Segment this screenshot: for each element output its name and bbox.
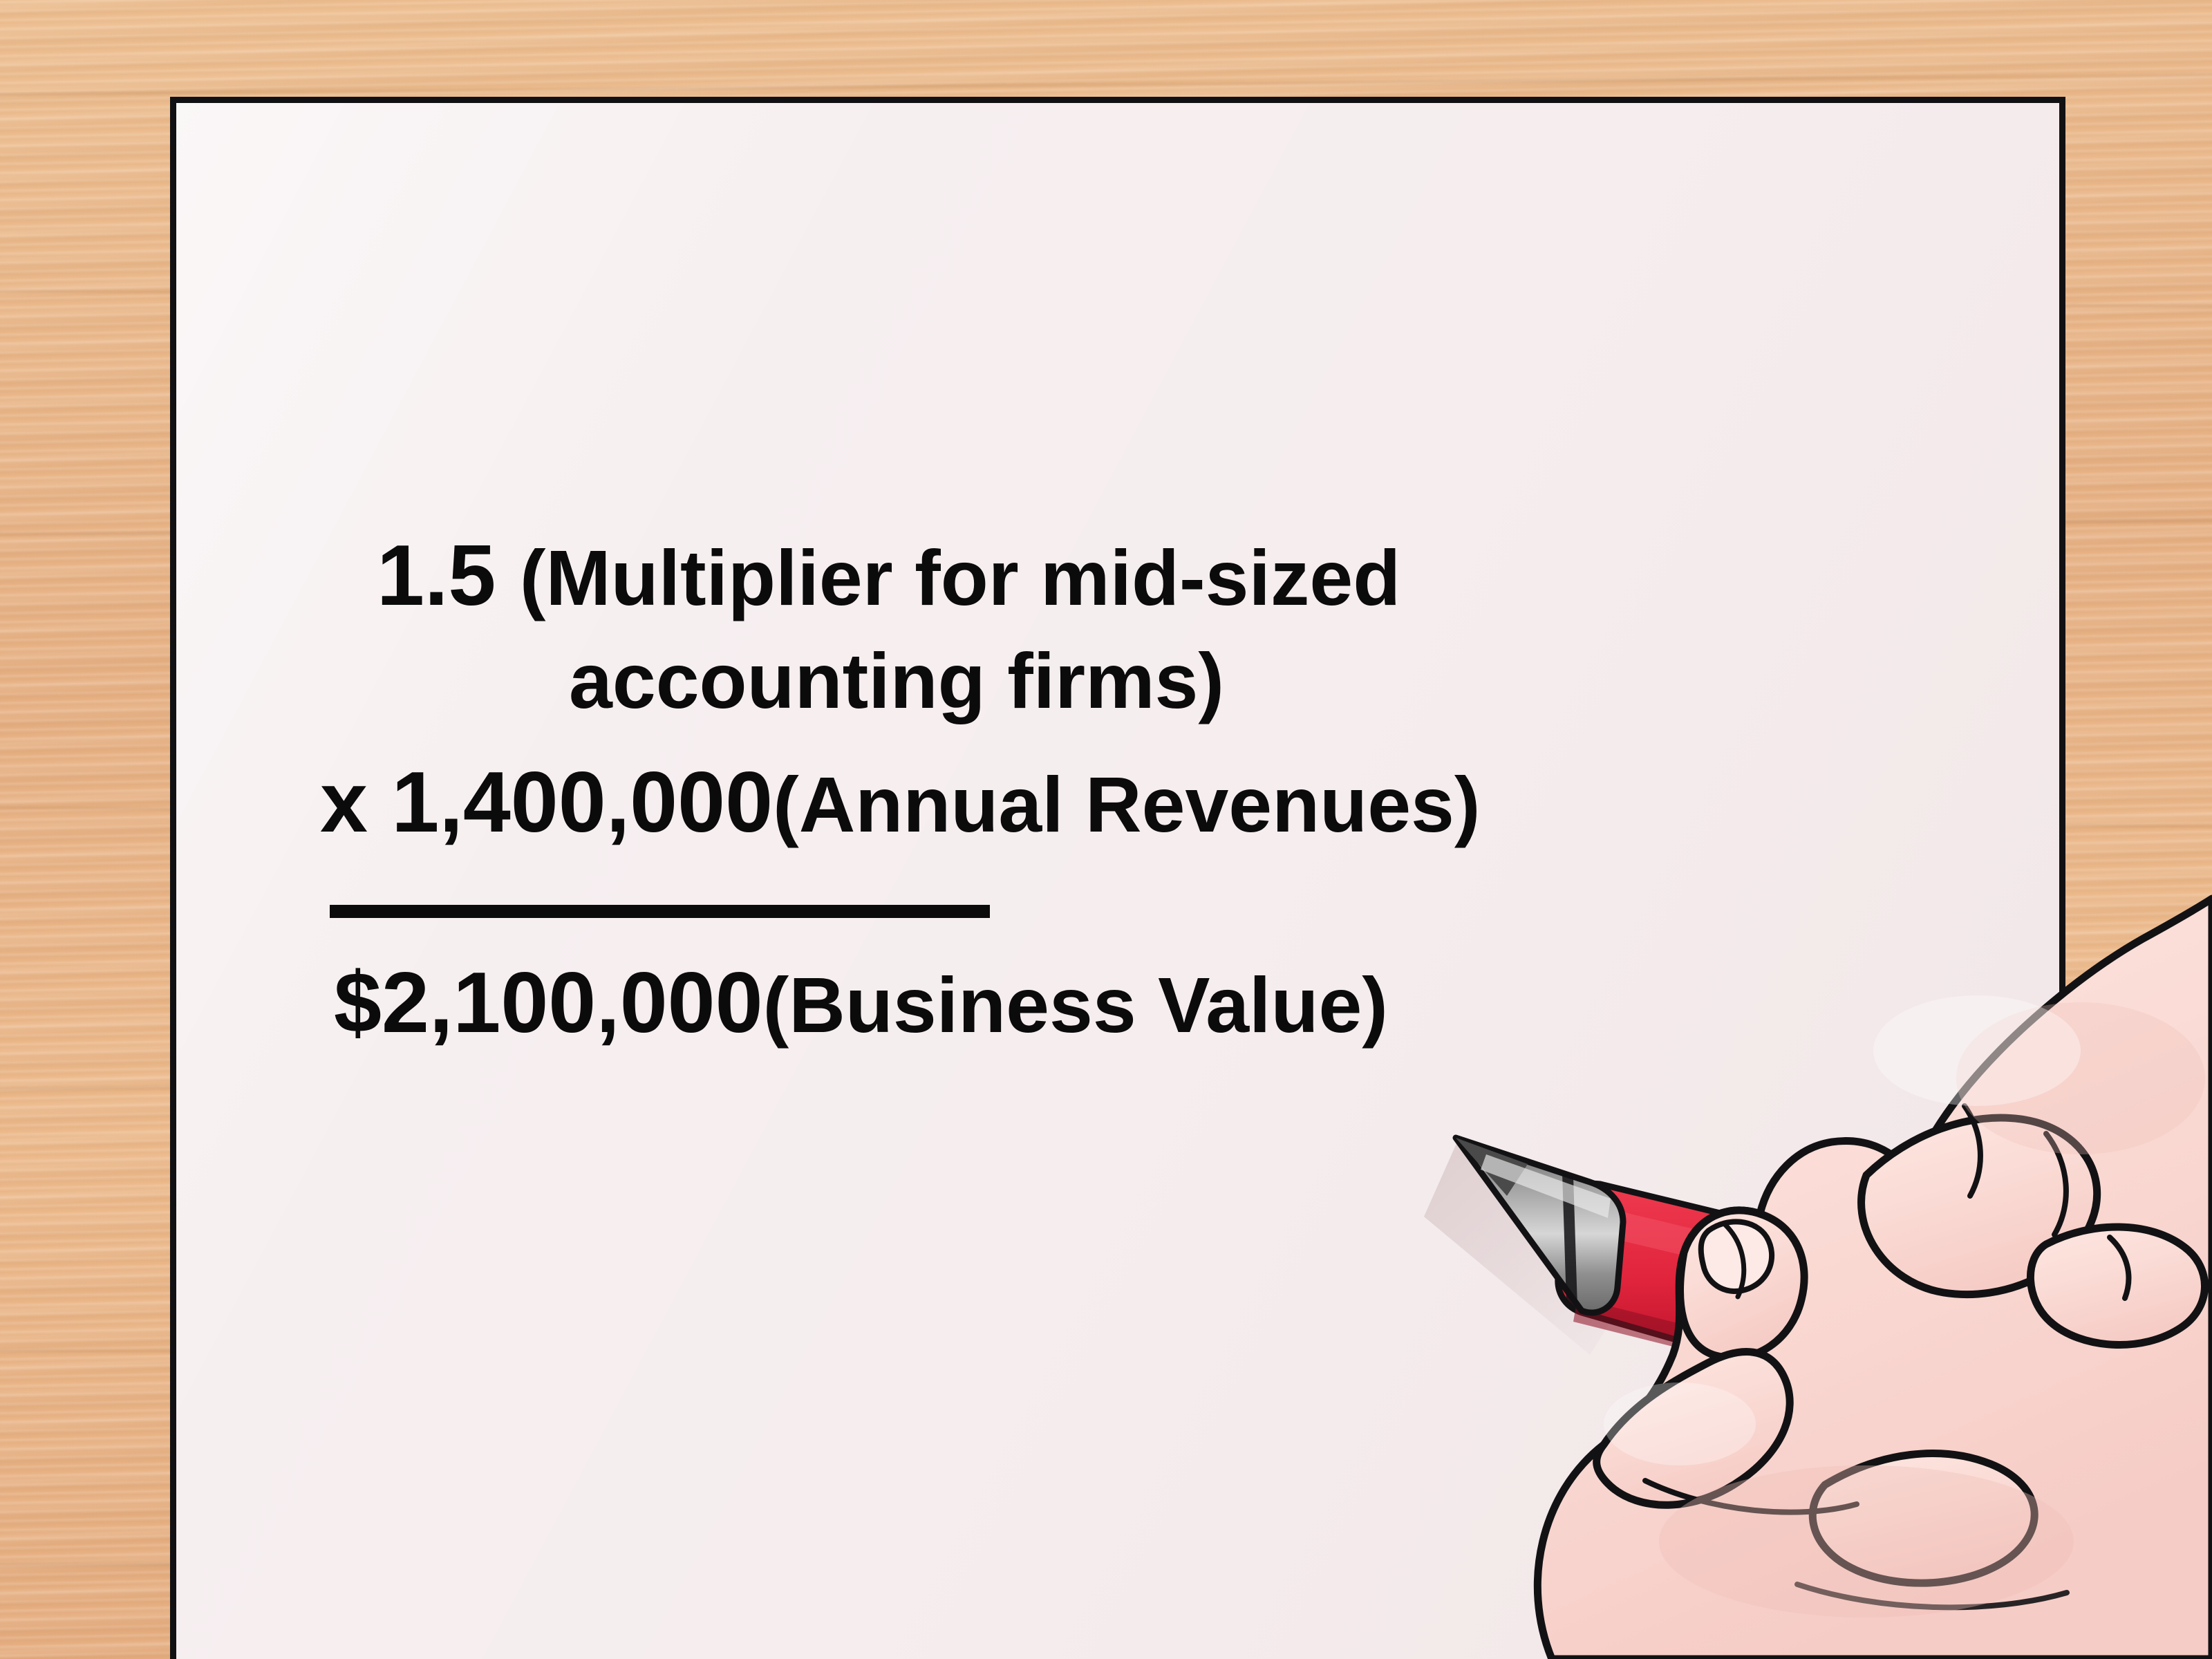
multiplier-label-continued: accounting firms) — [569, 637, 1224, 724]
calculation-divider-rule — [330, 905, 990, 918]
calculation-line-multiplier-continued: accounting firms) — [569, 642, 1224, 720]
calculation-line-multiplier: 1.5 (Multiplier for mid-sized — [377, 533, 1400, 619]
illustration-canvas: 1.5 (Multiplier for mid-sized accounting… — [0, 0, 2212, 1659]
multiplier-value: 1.5 — [377, 528, 496, 624]
business-value-label: (Business Value) — [763, 962, 1388, 1049]
multiplier-label: (Multiplier for mid-sized — [520, 534, 1400, 621]
calculation-line-revenues: x 1,400,000(Annual Revenues) — [320, 760, 1481, 845]
annual-revenues-value: x 1,400,000 — [320, 755, 773, 850]
business-value-result: $2,100,000 — [334, 955, 763, 1051]
annual-revenues-label: (Annual Revenues) — [773, 761, 1480, 848]
calculation-line-result: $2,100,000(Business Value) — [334, 960, 1388, 1046]
paper-sheet: 1.5 (Multiplier for mid-sized accounting… — [170, 97, 2065, 1659]
paper-sheen — [176, 103, 2059, 1659]
